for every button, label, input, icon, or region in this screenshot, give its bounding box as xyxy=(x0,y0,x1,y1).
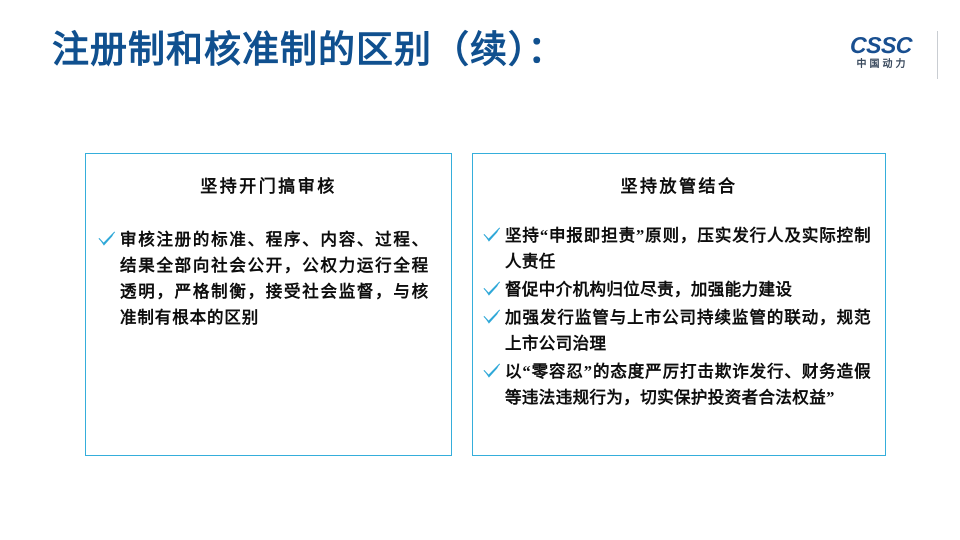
box-right-header: 坚持放管结合 xyxy=(473,175,885,199)
list-item: 审核注册的标准、程序、内容、过程、结果全部向社会公开，公权力运行全程透明，严格制… xyxy=(98,227,429,331)
logo-wordmark: CSSC xyxy=(828,33,935,57)
list-item-text: 坚持“申报即担责”原则，压实发行人及实际控制人责任 xyxy=(505,223,871,275)
box-right-bullet-list: 坚持“申报即担责”原则，压实发行人及实际控制人责任督促中介机构归位尽责，加强能力… xyxy=(473,223,885,411)
list-item-text: 督促中介机构归位尽责，加强能力建设 xyxy=(505,277,871,303)
box-left-bullet-list: 审核注册的标准、程序、内容、过程、结果全部向社会公开，公权力运行全程透明，严格制… xyxy=(86,227,451,331)
list-item: 督促中介机构归位尽责，加强能力建设 xyxy=(483,277,871,303)
check-mark-icon xyxy=(483,309,505,335)
box-left-header: 坚持开门搞审核 xyxy=(86,175,451,199)
check-mark-icon xyxy=(483,227,505,253)
logo-subtitle: 中国动力 xyxy=(828,58,934,72)
logo-divider xyxy=(937,31,938,79)
check-mark-icon xyxy=(483,281,505,307)
content-box-left: 坚持开门搞审核 审核注册的标准、程序、内容、过程、结果全部向社会公开，公权力运行… xyxy=(85,153,452,456)
list-item: 加强发行监管与上市公司持续监管的联动，规范上市公司治理 xyxy=(483,305,871,357)
list-item-text: 审核注册的标准、程序、内容、过程、结果全部向社会公开，公权力运行全程透明，严格制… xyxy=(120,227,429,331)
list-item-text: 以“零容忍”的态度严厉打击欺诈发行、财务造假等违法违规行为，切实保护投资者合法权… xyxy=(505,359,871,411)
cssc-logo: CSSC 中国动力 xyxy=(828,33,934,77)
list-item: 坚持“申报即担责”原则，压实发行人及实际控制人责任 xyxy=(483,223,871,275)
list-item-text: 加强发行监管与上市公司持续监管的联动，规范上市公司治理 xyxy=(505,305,871,357)
slide-canvas: 注册制和核准制的区别（续）： CSSC 中国动力 坚持开门搞审核 审核注册的标准… xyxy=(0,0,960,540)
check-mark-icon xyxy=(98,231,120,257)
page-title: 注册制和核准制的区别（续）： xyxy=(52,27,566,73)
check-mark-icon xyxy=(483,363,505,389)
content-box-right: 坚持放管结合 坚持“申报即担责”原则，压实发行人及实际控制人责任督促中介机构归位… xyxy=(472,153,886,456)
list-item: 以“零容忍”的态度严厉打击欺诈发行、财务造假等违法违规行为，切实保护投资者合法权… xyxy=(483,359,871,411)
